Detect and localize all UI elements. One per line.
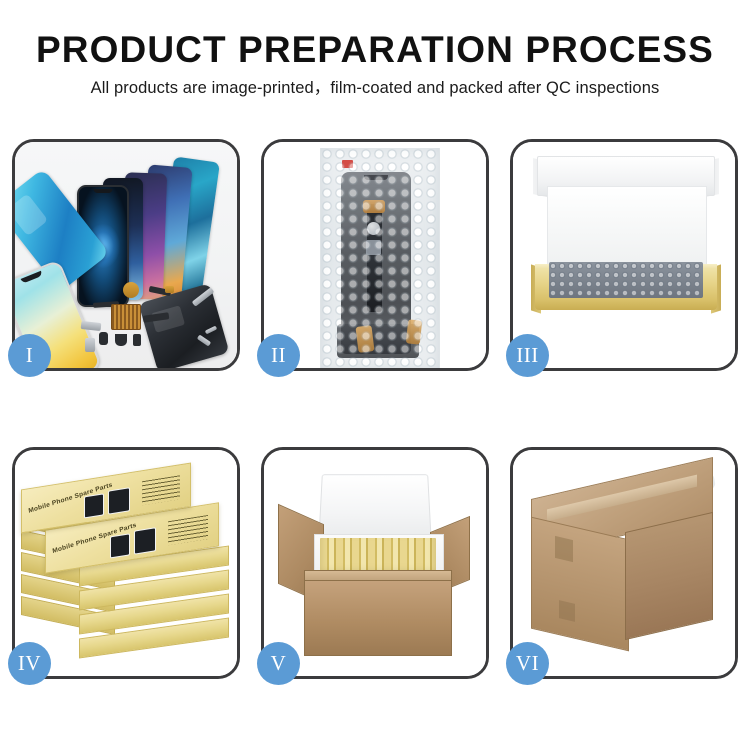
step-5-image	[264, 450, 486, 676]
bubble-wrap-scene	[264, 142, 486, 368]
part-sim-tray	[85, 338, 95, 352]
step-badge-5: V	[257, 642, 300, 685]
part-vibrator	[133, 334, 141, 346]
bubble-wrap-sheet	[320, 148, 440, 368]
step-badge-2: II	[257, 334, 300, 377]
screen-round-component	[367, 222, 380, 235]
carton-loading-scene	[264, 450, 486, 676]
screen-gold-connector	[363, 200, 385, 213]
process-step-panel-6: VI	[510, 447, 738, 679]
step-6-image	[513, 450, 735, 676]
page-title: PRODUCT PREPARATION PROCESS	[0, 0, 750, 70]
step-4-image: Mobile Phone Spare Parts Mobile Phone Sp…	[15, 450, 237, 676]
screen-gold-tab-right	[406, 319, 422, 344]
carton-flap-mark-upper	[555, 536, 573, 562]
process-step-panel-4: Mobile Phone Spare Parts Mobile Phone Sp…	[12, 447, 240, 679]
step-badge-1: I	[8, 334, 51, 377]
process-step-grid: I	[12, 139, 738, 679]
screen-gold-tab-left	[355, 325, 374, 353]
screen-flex-cable	[367, 204, 382, 312]
screen-red-label	[342, 160, 353, 168]
screen-chip	[366, 240, 381, 255]
process-step-panel-5: V	[261, 447, 489, 679]
step-badge-4: IV	[8, 642, 51, 685]
process-step-panel-2: II	[261, 139, 489, 371]
product-preparation-infographic: PRODUCT PREPARATION PROCESS All products…	[0, 0, 750, 750]
gray-bubble-wrapped-contents	[549, 262, 703, 298]
step-badge-6: VI	[506, 642, 549, 685]
part-gold-coil	[123, 282, 139, 298]
sealed-carton-scene	[513, 450, 735, 676]
part-gold-connector	[165, 286, 174, 293]
page-subtitle: All products are image-printed，film-coat…	[0, 70, 750, 97]
box-phone-image-middle-b	[134, 527, 156, 554]
step-badge-3: III	[506, 334, 549, 377]
step-1-image	[15, 142, 237, 368]
process-step-panel-3: III	[510, 139, 738, 371]
carton-front-face	[531, 517, 629, 652]
part-chip-array	[111, 304, 141, 330]
box-phone-image-top-a	[84, 493, 104, 518]
carton-flap-mark-lower	[559, 600, 575, 622]
step-3-image	[513, 142, 735, 368]
box-spec-lines-top	[142, 475, 180, 505]
carton-right-face	[625, 512, 713, 640]
process-step-panel-1: I	[12, 139, 240, 371]
part-speaker	[115, 334, 127, 346]
step-2-image	[264, 142, 486, 368]
box-phone-image-top-b	[108, 487, 130, 514]
part-camera-module	[99, 332, 108, 345]
box-spec-lines-middle	[168, 515, 208, 545]
inner-box-scene	[513, 142, 735, 368]
carton-body	[304, 580, 452, 656]
stacked-boxes-scene: Mobile Phone Spare Parts Mobile Phone Sp…	[15, 450, 237, 676]
phone-parts-scene	[15, 142, 237, 368]
box-phone-image-middle-a	[110, 533, 130, 558]
header: PRODUCT PREPARATION PROCESS All products…	[0, 0, 750, 130]
